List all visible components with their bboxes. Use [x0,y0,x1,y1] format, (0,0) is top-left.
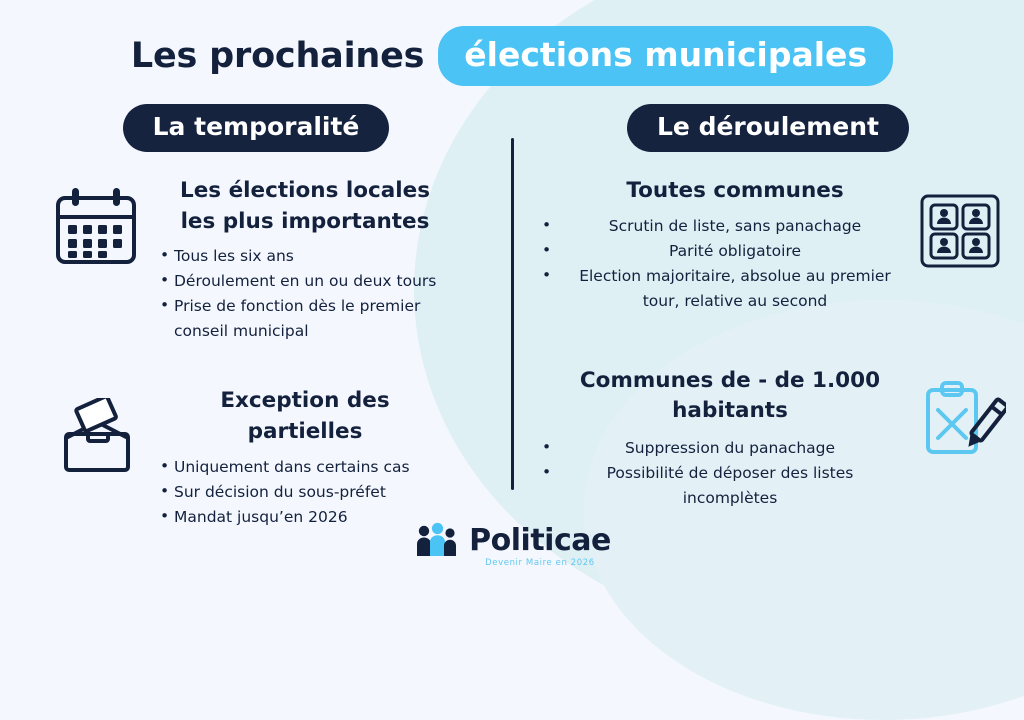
list-item-label: Election majoritaire, absolue au premier… [579,267,891,310]
infographic-page: Les prochaines élections municipales La … [0,0,1024,576]
list-item: •Election majoritaire, absolue au premie… [560,264,910,314]
list-item: •Possibilité de déposer des listes incom… [560,461,900,511]
ballot-box-icon [52,398,144,482]
block-title-toutes-communes: Toutes communes [560,176,910,207]
bullet-dot: • [542,263,551,288]
list-item-label: Parité obligatoire [669,242,801,260]
list-item: •Scrutin de liste, sans panachage [560,214,910,239]
list-item: Sur décision du sous-préfet [160,480,450,505]
bullets-communes-moins-1000: •Suppression du panachage •Possibilité d… [560,436,900,511]
block-title-elections-locales: Les élections locales les plus important… [160,176,450,237]
column-heading-right-label: Le déroulement [627,104,909,152]
column-temporalite: La temporalité [0,104,512,494]
list-item: Déroulement en un ou deux tours [160,269,450,294]
title-highlight-pill: élections municipales [438,26,893,86]
block-toutes-communes: Toutes communes •Scrutin de liste, sans … [512,176,1024,314]
bullet-dot: • [542,213,551,238]
bullets-exception-partielles: Uniquement dans certains cas Sur décisio… [160,455,450,530]
brand-name: Politicae [469,526,611,556]
list-item-label: Suppression du panachage [625,439,835,457]
column-heading-right: Le déroulement [512,104,1024,152]
block-elections-locales: Les élections locales les plus important… [0,176,512,344]
columns-container: La temporalité [0,104,1024,494]
block-exception-partielles: Exception des partielles Uniquement dans… [0,386,512,529]
block-communes-moins-1000: Communes de - de 1.000 habitants •Suppre… [512,366,1024,511]
page-title: Les prochaines élections municipales [0,0,1024,86]
calendar-icon [50,186,142,272]
brand-tagline: Devenir Maire en 2026 [485,558,595,568]
block-title-exception-partielles: Exception des partielles [160,386,450,447]
bullets-toutes-communes: •Scrutin de liste, sans panachage •Parit… [560,214,910,314]
people-group-icon [413,522,459,568]
brand-text-wrap: Politicae Devenir Maire en 2026 [469,526,611,568]
bullets-elections-locales: Tous les six ans Déroulement en un ou de… [160,244,450,344]
list-item-label: Scrutin de liste, sans panachage [609,217,861,235]
bullet-dot: • [542,435,551,460]
list-item: •Parité obligatoire [560,239,910,264]
column-deroulement: Le déroulement [512,104,1024,494]
bullet-dot: • [542,238,551,263]
bullet-dot: • [542,460,551,485]
voters-grid-icon [918,192,1002,274]
list-item: Uniquement dans certains cas [160,455,450,480]
ballot-paper-cross-icon [914,380,1006,468]
list-item: •Suppression du panachage [560,436,900,461]
list-item: Tous les six ans [160,244,450,269]
list-item: Prise de fonction dès le premier conseil… [160,294,450,344]
footer-logo[interactable]: Politicae Devenir Maire en 2026 [0,522,1024,568]
column-heading-left: La temporalité [0,104,512,152]
block-title-communes-moins-1000: Communes de - de 1.000 habitants [560,366,900,427]
title-plain-text: Les prochaines [131,36,424,76]
column-heading-left-label: La temporalité [123,104,390,152]
list-item-label: Possibilité de déposer des listes incomp… [607,464,854,507]
